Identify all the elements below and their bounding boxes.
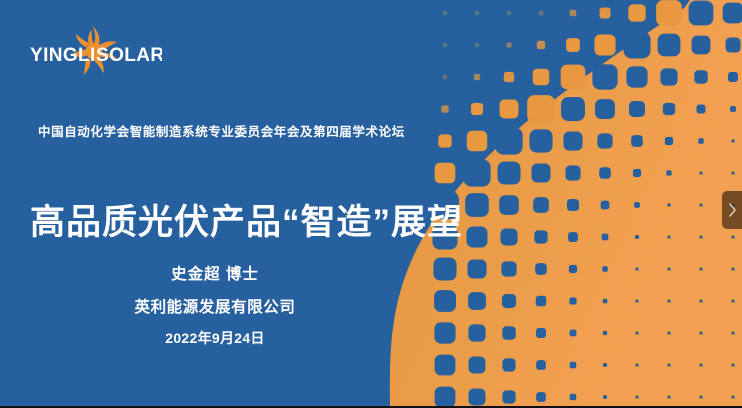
byline-block: 史金超 博士 英利能源发展有限公司 2022年9月24日 bbox=[0, 262, 430, 348]
page-title: 高品质光伏产品“智造”展望 bbox=[30, 203, 460, 243]
next-slide-button[interactable] bbox=[722, 191, 742, 229]
event-title: 中国自动化学会智能制造系统专业委员会年会及第四届学术论坛 bbox=[38, 121, 438, 140]
speaker-name: 史金超 博士 bbox=[0, 262, 430, 284]
slide-text-column: 中国自动化学会智能制造系统专业委员会年会及第四届学术论坛 高品质光伏产品“智造”… bbox=[0, 0, 470, 408]
chevron-right-icon bbox=[728, 203, 737, 217]
presentation-date: 2022年9月24日 bbox=[0, 328, 430, 348]
presentation-slide: YINGLI SOLAR 中国自动化学会智能制造系统专业委员会年会及第四届学术论… bbox=[0, 0, 742, 408]
organization-name: 英利能源发展有限公司 bbox=[0, 295, 430, 317]
